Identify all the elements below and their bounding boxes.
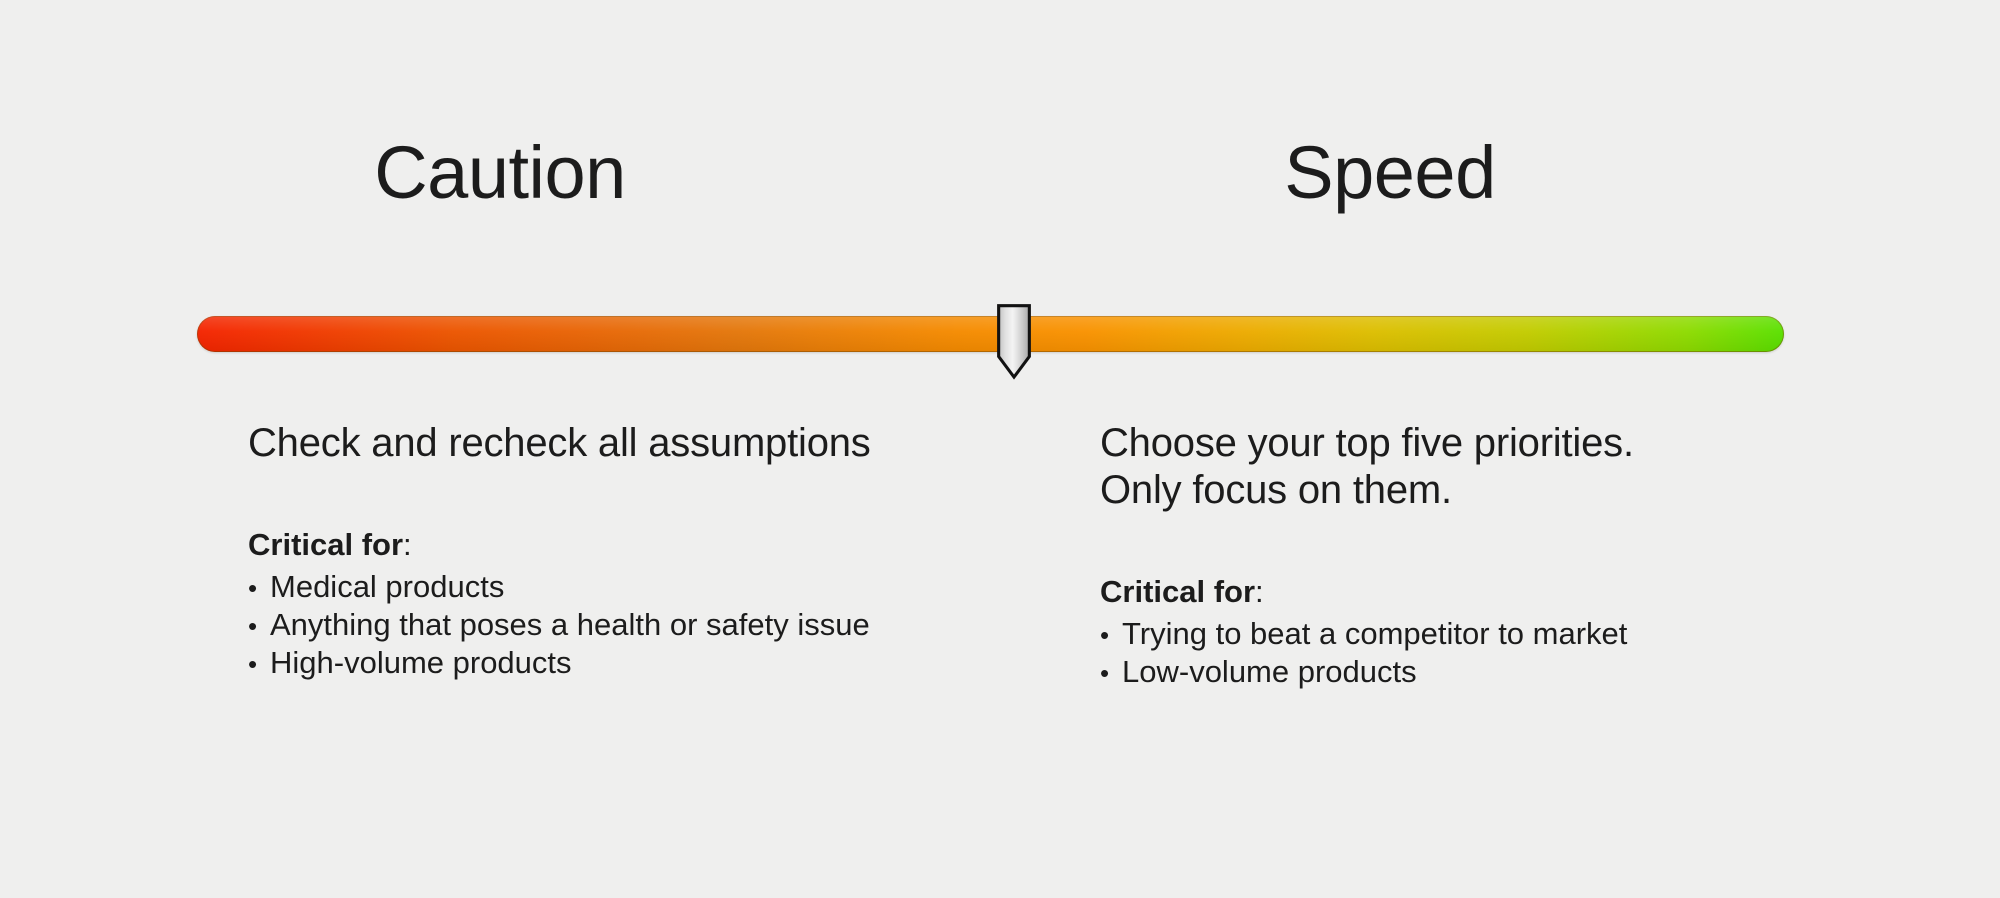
right-critical-block: Critical for: • Trying to beat a competi… <box>1100 573 1820 690</box>
slider-handle-pointer-icon[interactable] <box>997 304 1031 378</box>
list-item: • Trying to beat a competitor to market <box>1100 615 1820 653</box>
right-lead-line-2: Only focus on them. <box>1100 467 1820 514</box>
list-item-label: Medical products <box>270 568 504 606</box>
left-lead-line-1: Check and recheck all assumptions <box>248 420 1008 467</box>
right-critical-label: Critical for: <box>1100 573 1820 611</box>
list-item: • Medical products <box>248 568 1008 606</box>
slider-handle[interactable] <box>997 304 1031 378</box>
list-item-label: High-volume products <box>270 644 572 682</box>
heading-caution: Caution <box>0 136 1000 210</box>
list-item-label: Low-volume products <box>1122 653 1417 691</box>
left-critical-label: Critical for: <box>248 526 1008 564</box>
right-critical-colon: : <box>1255 574 1264 609</box>
right-lead-text: Choose your top five priorities. Only fo… <box>1100 420 1820 514</box>
heading-speed: Speed <box>1000 136 1780 210</box>
bullet-dot-icon: • <box>248 575 270 601</box>
list-item: • Anything that poses a health or safety… <box>248 606 1008 644</box>
right-lead-line-1: Choose your top five priorities. <box>1100 420 1820 467</box>
column-caution: Check and recheck all assumptions Critic… <box>248 420 1008 681</box>
list-item-label: Anything that poses a health or safety i… <box>270 606 870 644</box>
left-critical-block: Critical for: • Medical products • Anyth… <box>248 526 1008 681</box>
list-item-label: Trying to beat a competitor to market <box>1122 615 1627 653</box>
bullet-dot-icon: • <box>1100 622 1122 648</box>
right-critical-label-text: Critical for <box>1100 574 1255 609</box>
left-bullet-list: • Medical products • Anything that poses… <box>248 568 1008 681</box>
list-item: • High-volume products <box>248 644 1008 682</box>
right-bullet-list: • Trying to beat a competitor to market … <box>1100 615 1820 691</box>
bullet-dot-icon: • <box>1100 660 1122 686</box>
left-lead-text: Check and recheck all assumptions <box>248 420 1008 467</box>
left-critical-label-text: Critical for <box>248 527 403 562</box>
slider-track-container[interactable] <box>197 316 1784 352</box>
list-item: • Low-volume products <box>1100 653 1820 691</box>
slide-canvas: Caution Speed Check and recheck <box>0 0 2000 898</box>
bullet-dot-icon: • <box>248 613 270 639</box>
bullet-dot-icon: • <box>248 651 270 677</box>
left-critical-colon: : <box>403 527 412 562</box>
column-speed: Choose your top five priorities. Only fo… <box>1100 420 1820 691</box>
slider-gradient-track[interactable] <box>197 316 1784 352</box>
